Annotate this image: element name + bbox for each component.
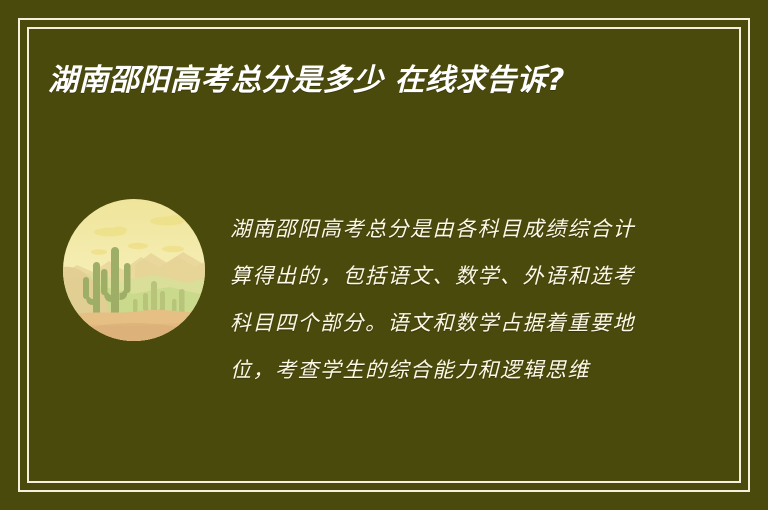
page-title: 湖南邵阳高考总分是多少 在线求告诉? xyxy=(48,58,708,104)
article-card: 湖南邵阳高考总分是多少 在线求告诉? xyxy=(0,0,768,510)
article-body-text: 湖南邵阳高考总分是由各科目成绩综合计算得出的，包括语文、数学、外语和选考科目四个… xyxy=(230,206,648,394)
desert-cactus-landscape-illustration xyxy=(63,199,205,341)
